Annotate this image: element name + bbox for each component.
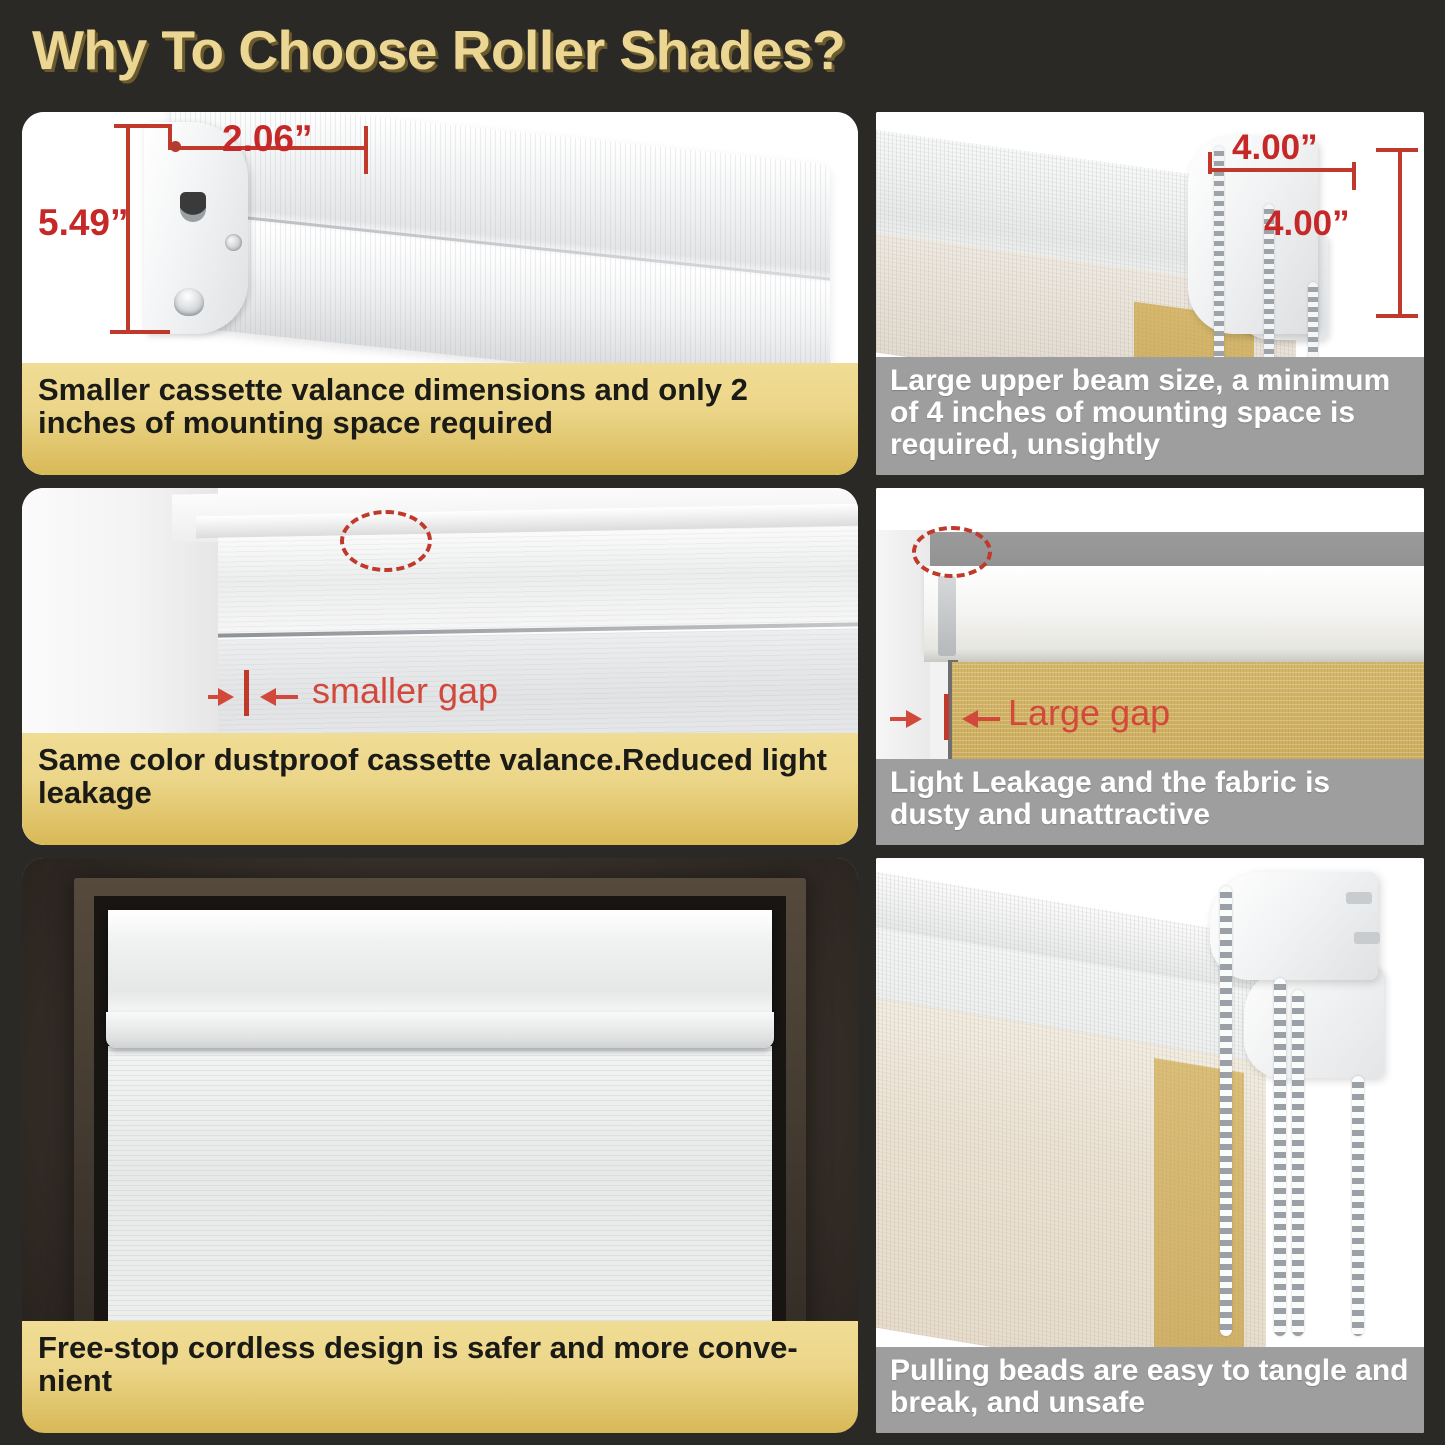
panel-caption-good-3: Free-stop cordless design is safer and m… — [22, 1321, 858, 1433]
page-title: Why To Choose Roller Shades? — [32, 18, 845, 82]
cassette-valance — [108, 910, 772, 1018]
gap-arrow-left-icon — [962, 710, 978, 728]
highlight-ellipse — [340, 510, 432, 572]
panel-caption-bad-1: Large upper beam size, a minimum of 4 in… — [876, 357, 1424, 475]
width-dimension-tick-right — [364, 126, 368, 174]
gap-marker — [244, 670, 249, 716]
panel-caption-bad-3: Pulling beads are easy to tangle and bre… — [876, 1347, 1424, 1433]
smaller-gap-label: smaller gap — [312, 670, 498, 712]
valance-slot — [180, 192, 206, 222]
height-dimension-label: 5.49” — [38, 202, 129, 244]
panel-dustproof-cassette-valance: smaller gap Same color dustproof cassett… — [22, 488, 858, 845]
panel-caption-good-1: Smaller cassette valance dimensions and … — [22, 363, 858, 475]
gap-arrow-tail — [890, 717, 910, 721]
height-dimension-tick-bottom — [110, 330, 170, 334]
screw-icon — [225, 234, 242, 251]
page-header: Why To Choose Roller Shades? — [0, 0, 1445, 100]
bead-chain — [1352, 1076, 1364, 1336]
panel-caption-good-2: Same color dustproof cassette valance.Re… — [22, 733, 858, 845]
bracket-clip — [174, 288, 204, 316]
height-dimension-tick-top — [1376, 148, 1418, 152]
gap-arrow-tail — [208, 695, 222, 699]
width-dimension-line — [1210, 168, 1356, 172]
bracket-notch — [1346, 892, 1372, 904]
width-dimension-label: 2.06” — [222, 118, 313, 160]
large-gap-label: Large gap — [1008, 692, 1170, 734]
height-dimension-tick-bottom — [1376, 314, 1418, 318]
height-dimension-tick-top — [114, 124, 170, 128]
height-dimension-label: 4.00” — [1264, 204, 1350, 244]
mounting-bracket — [938, 576, 956, 656]
panel-large-upper-beam: 4.00” 4.00” Large upper beam size, a min… — [876, 112, 1424, 475]
dimension-origin-dot — [170, 141, 181, 152]
bead-chain — [1214, 146, 1224, 386]
width-dimension-label: 4.00” — [1232, 128, 1318, 168]
head-rail-lip — [924, 648, 1424, 662]
width-dimension-tick-right — [1352, 162, 1356, 190]
shade-fabric — [108, 1046, 772, 1366]
panel-free-stop-cordless: Free-stop cordless design is safer and m… — [22, 858, 858, 1433]
panel-pulling-beads-unsafe: Pulling beads are easy to tangle and bre… — [876, 858, 1424, 1433]
height-dimension-line — [1398, 150, 1402, 318]
panel-caption-bad-2: Light Leakage and the fabric is dusty an… — [876, 759, 1424, 845]
bead-chain — [1274, 978, 1286, 1336]
panel-cassette-valance-dimensions: 2.06” 5.49” Smaller cassette valance dim… — [22, 112, 858, 475]
width-dimension-tick-left — [1208, 152, 1212, 174]
valance-lip — [106, 1012, 774, 1048]
lower-bracket — [1244, 968, 1384, 1078]
valance-upper — [218, 526, 858, 637]
gap-marker — [944, 694, 949, 740]
upper-bracket — [1210, 872, 1378, 980]
comparison-grid: 2.06” 5.49” Smaller cassette valance dim… — [0, 100, 1445, 1445]
bead-chain — [1292, 990, 1304, 1336]
highlight-ellipse — [912, 526, 992, 578]
head-rail — [924, 566, 1424, 652]
bracket-notch — [1354, 932, 1380, 944]
gap-arrow-tail — [276, 695, 298, 699]
gap-arrow-left-icon — [260, 688, 276, 706]
bead-chain — [1220, 886, 1232, 1336]
gap-arrow-tail — [978, 717, 1000, 721]
panel-light-leakage: Large gap Light Leakage and the fabric i… — [876, 488, 1424, 845]
